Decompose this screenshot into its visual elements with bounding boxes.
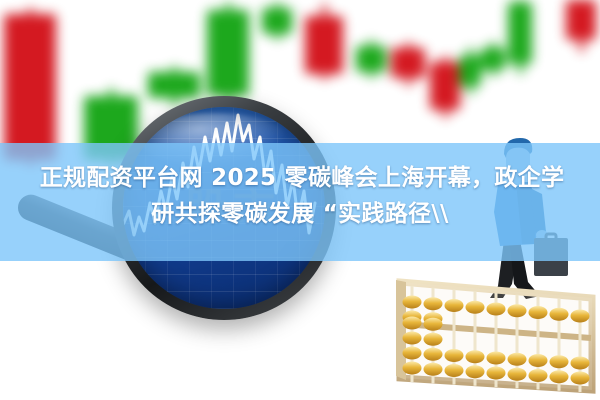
abacus-bead [403,362,422,375]
abacus-bead [571,357,590,370]
headline-text: 正规配资平台网 2025 零碳峰会上海开幕，政企学 研共探零碳发展 “实践路径\… [0,160,600,232]
abacus-bead [529,306,548,319]
abacus-bead [508,304,527,317]
abacus-bead [571,310,590,323]
candlestick-body [459,56,481,86]
abacus-bead [466,365,485,378]
abacus-bead [487,303,506,316]
abacus-bead [529,369,548,382]
candlestick-body [356,46,386,72]
abacus-bead [571,372,590,385]
abacus-bead [424,348,443,361]
candlestick-body [391,48,425,78]
abacus-bead [550,355,569,368]
candlestick-body [207,10,249,96]
abacus-bead [508,368,527,381]
candlestick-body [508,2,532,64]
abacus-bead [424,297,443,310]
abacus-bead [487,367,506,380]
candlestick-body [4,14,56,160]
abacus-bead [424,363,443,376]
candlestick-body [481,48,505,70]
abacus-bead [403,347,422,360]
candlestick-body [566,0,596,40]
abacus-bead [445,299,464,312]
candlestick-body [148,72,200,98]
abacus-bead [550,308,569,321]
abacus-illustration [386,272,600,400]
abacus-bead [487,352,506,365]
headline-line-1: 正规配资平台网 2025 零碳峰会上海开幕，政企学 [6,160,594,196]
candlestick-body [262,8,292,34]
abacus-bead [445,349,464,362]
abacus-bead [466,301,485,314]
abacus-bead [529,354,548,367]
poster-image: 股市 正规配资平台网 2025 零碳峰会上海开幕，政企学 研共探零碳发展 “实践… [0,0,600,400]
abacus-bead [403,317,422,330]
abacus-bead [508,353,527,366]
candlestick-body [430,62,460,110]
abacus-bead [403,296,422,309]
abacus-bead [445,364,464,377]
abacus-bead [403,332,422,345]
candlestick-body [305,16,343,74]
abacus-bead [466,350,485,363]
abacus-bead [424,333,443,346]
headline-line-2: 研共探零碳发展 “实践路径\\ [6,196,594,232]
abacus-bead [550,370,569,383]
abacus-bead [424,318,443,331]
